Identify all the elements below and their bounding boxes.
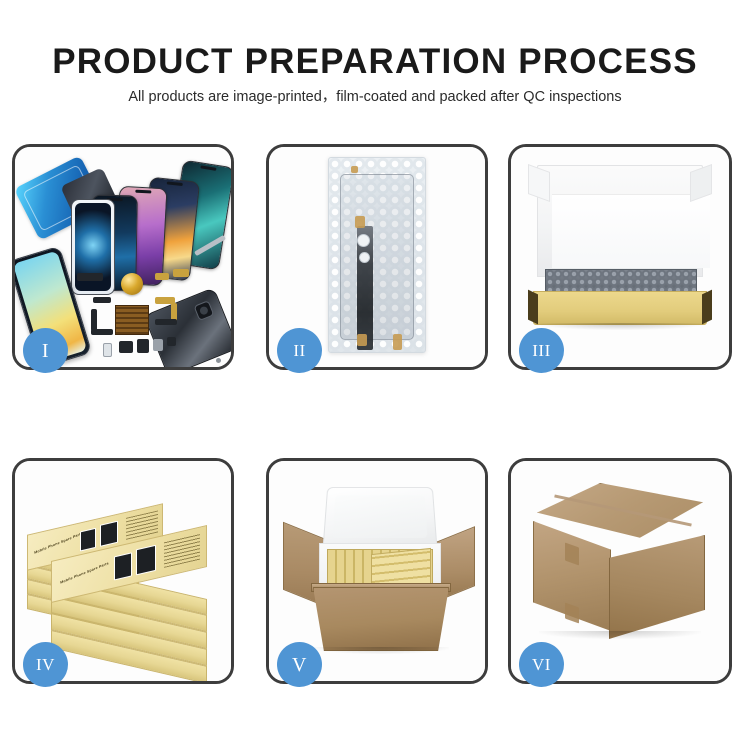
speaker-module-icon (77, 273, 103, 281)
notch-icon (167, 181, 183, 186)
drop-shadow (537, 323, 705, 330)
phone-image-icon (136, 545, 156, 576)
product-preparation-infographic: PRODUCT PREPARATION PROCESS All products… (0, 0, 750, 750)
component-icon (167, 337, 176, 346)
phone-image-icon (114, 552, 132, 580)
tape-seal-icon (357, 334, 367, 346)
foam-liner-lid-icon (323, 487, 438, 547)
connector-icon (155, 273, 169, 280)
process-step-grid: I II (0, 140, 750, 685)
step-1-badge: I (23, 328, 68, 373)
phone-image-icon (80, 528, 96, 552)
wireless-charging-coil-icon (121, 273, 143, 295)
flex-cable-icon (91, 329, 113, 335)
notch-icon (135, 190, 151, 194)
flex-cable-icon (91, 309, 97, 331)
phone-image-icon (100, 521, 118, 547)
step-5-badge: V (277, 642, 322, 687)
kraft-carton-open-icon (283, 483, 475, 653)
box-label-text: Mobile Phone Spare Parts (34, 531, 83, 554)
box-tray-icon (533, 291, 707, 325)
step-4-badge: IV (23, 642, 68, 687)
header: PRODUCT PREPARATION PROCESS All products… (0, 0, 750, 120)
stacked-retail-boxes-icon: Mobile Phone Spare Parts Mobile Phone Sp… (21, 481, 225, 667)
connector-icon (173, 269, 189, 277)
battery-component-icon (103, 343, 112, 357)
process-step-1: I (12, 144, 234, 370)
foam-sheet-icon (552, 194, 710, 268)
flex-cable-icon (93, 297, 111, 303)
page-subtitle: All products are image-printed，film-coat… (0, 88, 750, 106)
chip-grid-icon (115, 305, 149, 335)
box-label-text: Mobile Phone Spare Parts (60, 561, 109, 584)
step-6-badge: VI (519, 642, 564, 687)
yellow-tray-box-icon (527, 165, 713, 329)
step-2-badge: II (277, 328, 322, 373)
sealed-carton-icon (525, 483, 715, 655)
component-icon (119, 341, 133, 353)
process-step-6: VI (508, 458, 732, 684)
flex-cable-icon (155, 319, 177, 325)
component-icon (137, 339, 149, 353)
bubble-wrap-bag-icon (328, 157, 426, 353)
wrapped-part-outline (340, 174, 414, 340)
step-3-badge: III (519, 328, 564, 373)
carton-right-face (609, 535, 705, 639)
carton-body (313, 587, 449, 651)
process-step-2: II (266, 144, 488, 370)
component-icon (359, 252, 370, 263)
drop-shadow (313, 647, 449, 654)
tape-seal-icon (393, 334, 402, 350)
component-icon (153, 339, 163, 351)
spec-text-lines (164, 534, 200, 568)
process-step-5: V (266, 458, 488, 684)
drop-shadow (539, 631, 701, 639)
process-step-3: III (508, 144, 732, 370)
page-title: PRODUCT PREPARATION PROCESS (0, 42, 750, 82)
white-foam-lid-icon (537, 165, 703, 277)
camera-module-icon (194, 300, 215, 321)
tape-seal-icon (355, 216, 365, 228)
notch-icon (200, 165, 216, 170)
spec-text-lines (126, 510, 158, 539)
process-step-4: Mobile Phone Spare Parts Mobile Phone Sp… (12, 458, 234, 684)
component-icon (357, 234, 370, 247)
tape-seal-icon (351, 166, 358, 173)
screw-icon (216, 358, 221, 363)
